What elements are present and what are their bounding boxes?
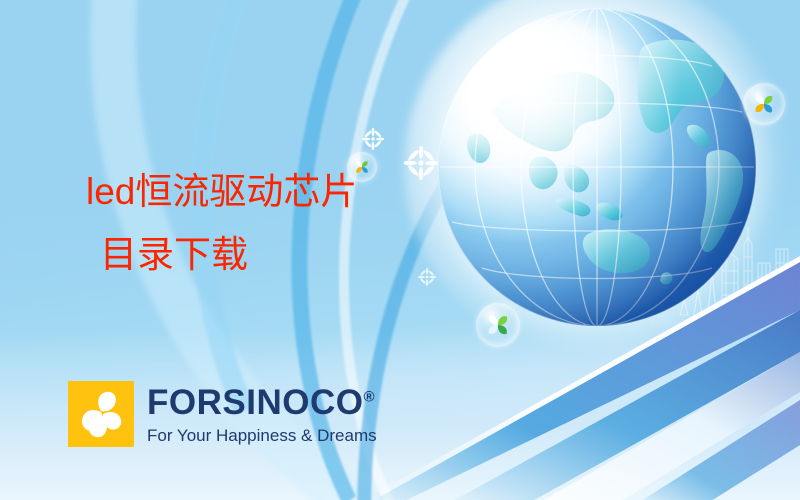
trademark-symbol: ® <box>363 388 375 405</box>
diagonal-light-streaks <box>380 240 800 500</box>
company-logo: FORSINOCO® For Your Happiness & Dreams <box>68 381 377 447</box>
page-title: led恒流驱动芯片 目录下载 <box>86 160 357 286</box>
headline-line-2: 目录下载 <box>86 223 357 286</box>
headline-line-1: led恒流驱动芯片 <box>86 171 357 212</box>
pinwheel-bubble <box>743 83 785 125</box>
four-petal-pinwheel-icon <box>68 381 134 447</box>
globe-specular-highlight <box>463 21 647 186</box>
brand-name: FORSINOCO® <box>147 385 377 420</box>
flower-sparkle-icon <box>404 146 438 180</box>
brand-name-text: FORSINOCO <box>147 383 363 422</box>
logo-text-block: FORSINOCO® For Your Happiness & Dreams <box>147 385 377 444</box>
petal-mark-svg <box>68 381 134 447</box>
promo-banner: led恒流驱动芯片 目录下载 FORSINOCO® For Your Happi… <box>0 0 800 500</box>
pinwheel-icon <box>753 93 775 115</box>
brand-tagline: For Your Happiness & Dreams <box>147 427 377 444</box>
flower-sparkle-icon <box>362 128 384 150</box>
